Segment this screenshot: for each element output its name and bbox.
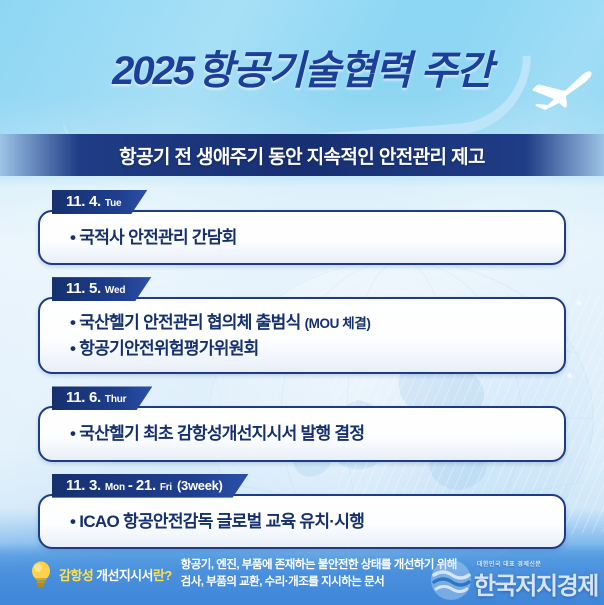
bullet-icon: • [70,313,75,332]
event-text: 항공기안전위험평가위원회 [79,339,258,358]
lightbulb-icon [30,561,52,587]
poster-title-area: 2025항공기술협력 주간 [0,38,604,116]
event-card: • 국산헬기 최초 감항성개선지시서 발행 결정 [38,406,566,461]
event-item: • ICAO 항공안전감독 글로벌 교육 유치·시행 [70,509,546,534]
bullet-icon: • [70,512,75,531]
date-tag: 11. 4. Tue [52,190,147,214]
event-item: • 항공기안전위험평가위원회 [70,336,546,361]
weekday-text: Mon [105,482,125,493]
schedule-block: 11. 6. Thur • 국산헬기 최초 감항성개선지시서 발행 결정 [0,386,604,461]
weekday-end-text: Fri [160,482,172,493]
subtitle-banner: 항공기 전 생애주기 동안 지속적인 안전관리 제고 [0,134,604,176]
schedule-list: 11. 4. Tue • 국적사 안전관리 간담회 11. 5. Wed • 국… [0,190,604,561]
date-end-text: 21. [136,474,156,498]
weekday-text: Wed [105,285,125,296]
date-text: 11. 5. [66,277,101,301]
footer-description: 항공기, 엔진, 부품에 존재하는 불안전한 상태를 개선하기 위해 검사, 부… [181,557,457,590]
footer-note: 감항성 개선지시서란? 항공기, 엔진, 부품에 존재하는 불안전한 상태를 개… [0,543,604,605]
weekday-text: Thur [105,394,126,405]
event-card: • 국적사 안전관리 간담회 [38,210,566,265]
bullet-icon: • [70,424,75,443]
date-text: 11. 6. [66,386,101,410]
footer-desc-line-2: 검사, 부품의 교환, 수리·개조를 지시하는 문서 [181,576,385,588]
event-item: • 국적사 안전관리 간담회 [70,225,546,250]
footer-desc-line-1: 항공기, 엔진, 부품에 존재하는 불안전한 상태를 개선하기 위해 [181,559,457,571]
schedule-block: 11. 4. Tue • 국적사 안전관리 간담회 [0,190,604,265]
event-item: • 국산헬기 최초 감항성개선지시서 발행 결정 [70,421,546,446]
bullet-icon: • [70,339,75,358]
date-text: 11. 3. [66,474,101,498]
page-title: 2025항공기술협력 주간 [0,38,604,96]
event-item: • 국산헬기 안전관리 협의체 출범식 (MOU 체결) [70,310,546,335]
schedule-block: 11. 5. Wed • 국산헬기 안전관리 협의체 출범식 (MOU 체결) … [0,277,604,374]
title-year: 2025 [112,49,193,93]
date-tag: 11. 6. Thur [52,386,152,410]
duration-text: (3week) [177,478,223,493]
subtitle-text: 항공기 전 생애주기 동안 지속적인 안전관리 제고 [119,142,485,169]
schedule-block: 11. 3. Mon - 21. Fri (3week) • ICAO 항공안전… [0,474,604,549]
date-separator: - [128,474,133,498]
event-note: (MOU 체결) [305,316,371,331]
weekday-text: Tue [105,198,121,209]
event-text: 국적사 안전관리 간담회 [79,228,236,247]
footer-term-plain: 개선지시서 [93,568,153,583]
bullet-icon: • [70,228,75,247]
event-card: • 국산헬기 안전관리 협의체 출범식 (MOU 체결) • 항공기안전위험평가… [38,297,566,374]
event-text: 국산헬기 안전관리 협의체 출범식 [79,313,300,332]
date-tag: 11. 3. Mon - 21. Fri (3week) [52,474,249,498]
footer-term-label: 감항성 개선지시서란? [59,565,172,584]
event-text: ICAO 항공안전감독 글로벌 교육 유치·시행 [79,512,364,531]
poster-canvas: 2025항공기술협력 주간 항공기 전 생애주기 동안 지속적인 안전관리 제고… [0,0,604,605]
event-card: • ICAO 항공안전감독 글로벌 교육 유치·시행 [38,494,566,549]
date-tag: 11. 5. Wed [52,277,151,301]
date-text: 11. 4. [66,190,101,214]
title-main: 항공기술협력 주간 [197,49,492,93]
footer-term-highlight-2: 란? [153,568,172,583]
footer-term-highlight-1: 감항성 [59,568,93,583]
event-text: 국산헬기 최초 감항성개선지시서 발행 결정 [79,424,364,443]
